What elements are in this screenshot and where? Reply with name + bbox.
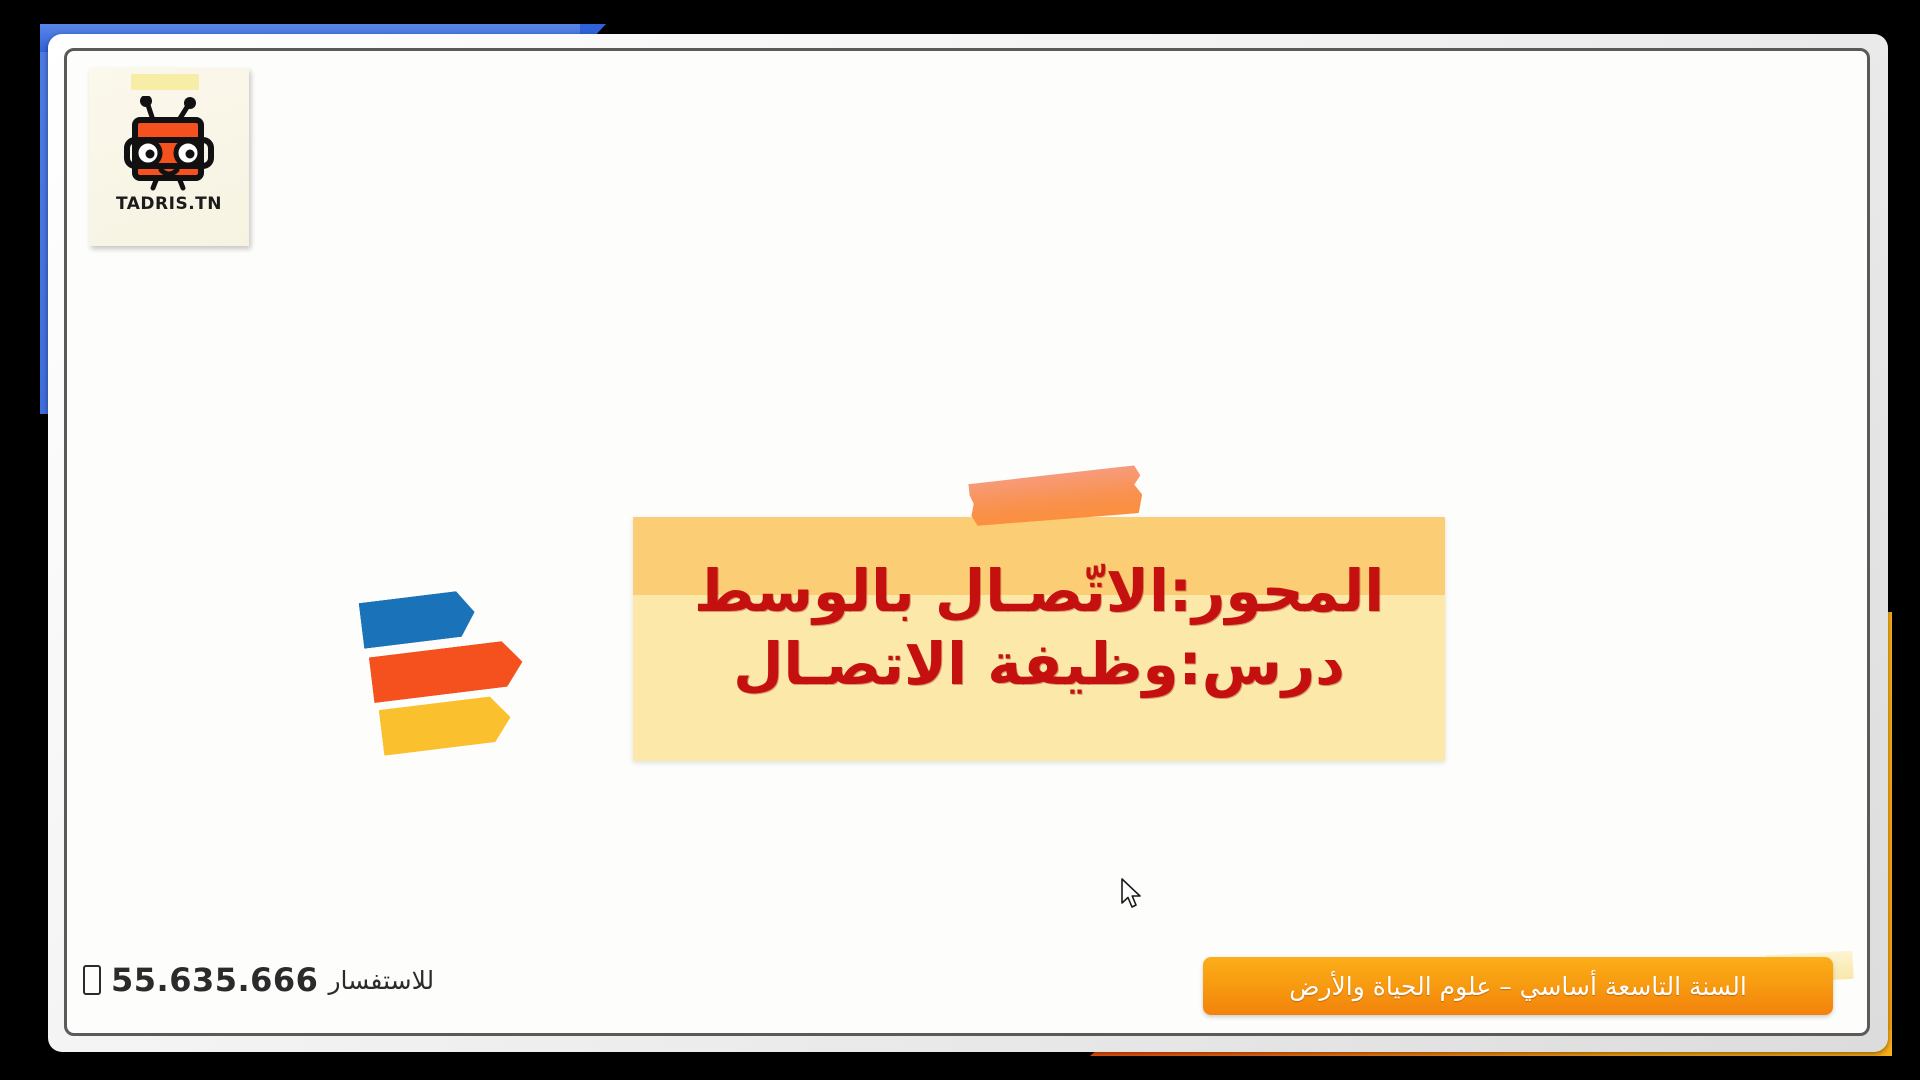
- subject-banner: السنة التاسعة أساسي – علوم الحياة والأرض: [1203, 957, 1833, 1015]
- logo-highlight-marker: [131, 74, 199, 90]
- logo-sticky-note: TADRIS.TN: [89, 68, 249, 246]
- contact-label: للاستفسار: [328, 966, 434, 995]
- lesson-title-card: المحور:الاتّصـال بالوسط درس:وظيفة الاتصـ…: [633, 517, 1445, 761]
- lesson-title-line-2: درس:وظيفة الاتصـال: [633, 628, 1445, 701]
- chevron-blue: [359, 589, 478, 649]
- tadris-robot-tv-icon: [117, 96, 221, 194]
- chevron-yellow: [379, 694, 514, 756]
- subject-banner-text: السنة التاسعة أساسي – علوم الحياة والأرض: [1289, 972, 1747, 1001]
- chevron-orange: [369, 639, 525, 703]
- chevron-decoration-group: [357, 596, 557, 796]
- lesson-title-text: المحور:الاتّصـال بالوسط درس:وظيفة الاتصـ…: [633, 555, 1445, 700]
- phone-icon: [83, 965, 101, 995]
- logo-caption: TADRIS.TN: [89, 194, 249, 214]
- contact-phone-number: 55.635.666: [111, 961, 318, 999]
- lesson-title-line-1: المحور:الاتّصـال بالوسط: [633, 555, 1445, 628]
- contact-info: للاستفسار 55.635.666: [83, 961, 434, 999]
- slide-canvas: TADRIS.TN المحور:الاتّصـال بالوسط درس:وظ…: [64, 48, 1870, 1036]
- screen-root: TADRIS.TN المحور:الاتّصـال بالوسط درس:وظ…: [0, 0, 1920, 1080]
